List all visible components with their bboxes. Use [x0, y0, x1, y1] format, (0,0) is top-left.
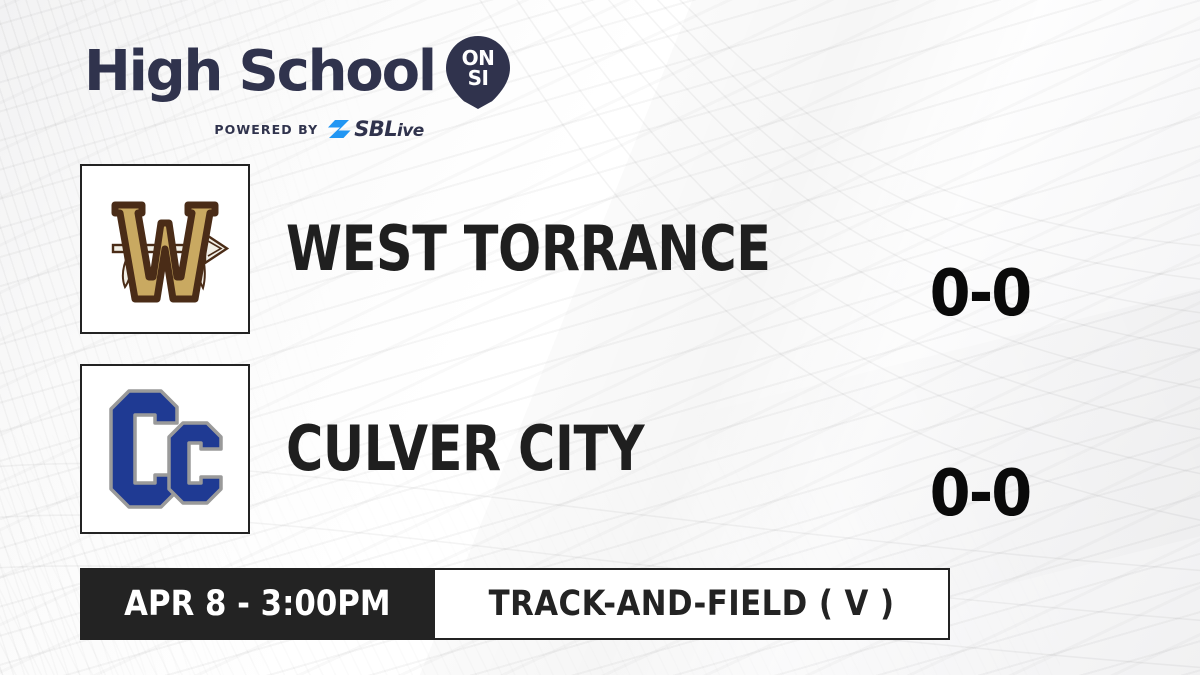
game-datetime-block: APR 8 - 3:00PM [80, 568, 435, 640]
powered-by-label: POWERED BY [214, 122, 318, 137]
brand-title-row: High School ON SI [84, 34, 514, 110]
sblive-word-suffix: ive [397, 121, 424, 141]
sblive-logo: SBLive [327, 117, 423, 141]
sblive-word-main: SBL [354, 117, 397, 141]
brand-header: High School ON SI POWERED BY SBLive [84, 34, 514, 141]
matchup-graphic: High School ON SI POWERED BY SBLive [0, 0, 1200, 675]
game-sport-block: TRACK-AND-FIELD ( V ) [435, 568, 950, 640]
sblive-wordmark: SBLive [354, 117, 423, 141]
culver-city-centaurs-logo [80, 364, 250, 534]
page-title: High School [84, 44, 435, 100]
powered-by-row: POWERED BY SBLive [84, 117, 514, 141]
on-si-pin-icon: ON SI [445, 34, 511, 110]
team-record-away: 0-0 [916, 462, 1045, 526]
game-datetime-label: APR 8 - 3:00PM [124, 587, 390, 622]
team-name-home: WEST TORRANCE [286, 218, 771, 280]
team-row-away: CULVER CITY [80, 364, 723, 534]
west-torrance-warriors-logo [80, 164, 250, 334]
team-row-home: WEST TORRANCE [80, 164, 877, 334]
game-sport-label: TRACK-AND-FIELD ( V ) [488, 587, 894, 622]
sblive-bolt-icon [327, 119, 351, 139]
team-record-home: 0-0 [916, 262, 1045, 326]
svg-text:SI: SI [467, 66, 488, 90]
team-name-away: CULVER CITY [286, 418, 644, 480]
game-info-bar: APR 8 - 3:00PM TRACK-AND-FIELD ( V ) [80, 568, 950, 640]
